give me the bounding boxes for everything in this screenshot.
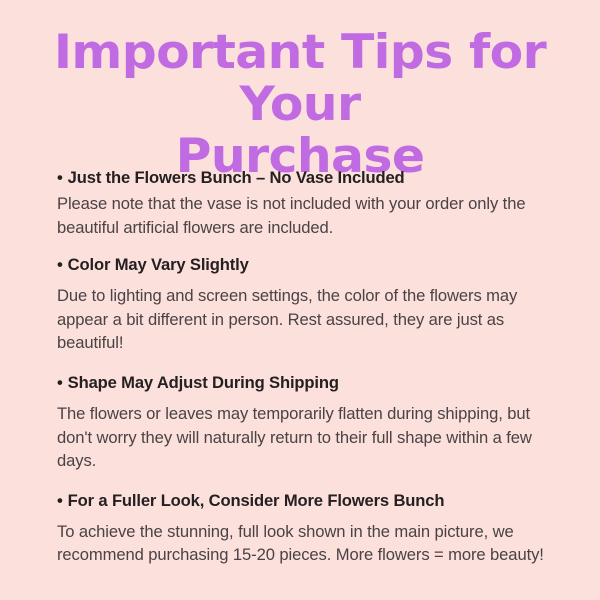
tip-body-1: Please note that the vase is not include…	[57, 192, 547, 239]
page-title: Important Tips for Your Purchase	[13, 27, 587, 183]
tip-heading-3: •Shape May Adjust During Shipping	[57, 371, 547, 395]
tip-heading-1-text: Just the Flowers Bunch – No Vase Include…	[68, 168, 405, 187]
bullet-icon: •	[57, 166, 63, 190]
tip-body-4: To achieve the stunning, full look shown…	[57, 520, 547, 567]
tip-section-3: •Shape May Adjust During Shipping The fl…	[57, 371, 547, 473]
tip-heading-1: •Just the Flowers Bunch – No Vase Includ…	[57, 166, 547, 190]
tip-heading-4: •For a Fuller Look, Consider More Flower…	[57, 489, 547, 513]
tip-heading-2: •Color May Vary Slightly	[57, 253, 547, 277]
tip-heading-4-text: For a Fuller Look, Consider More Flowers…	[68, 491, 445, 510]
section-spacer-1	[57, 241, 547, 253]
tip-section-1: •Just the Flowers Bunch – No Vase Includ…	[57, 166, 547, 239]
tips-list: •Just the Flowers Bunch – No Vase Includ…	[57, 166, 547, 569]
tip-body-3: The flowers or leaves may temporarily fl…	[57, 402, 547, 473]
tip-section-4: •For a Fuller Look, Consider More Flower…	[57, 489, 547, 567]
info-card: Important Tips for Your Purchase •Just t…	[0, 0, 600, 600]
tip-heading-2-text: Color May Vary Slightly	[68, 255, 249, 274]
section-spacer-3	[57, 475, 547, 489]
tip-heading-3-text: Shape May Adjust During Shipping	[68, 373, 339, 392]
tip-body-2: Due to lighting and screen settings, the…	[57, 284, 547, 355]
page-title-line-1: Important Tips for Your	[13, 27, 587, 131]
bullet-icon: •	[57, 371, 63, 395]
tip-section-2: •Color May Vary Slightly Due to lighting…	[57, 253, 547, 355]
bullet-icon: •	[57, 253, 63, 277]
section-spacer-2	[57, 357, 547, 371]
bullet-icon: •	[57, 489, 63, 513]
